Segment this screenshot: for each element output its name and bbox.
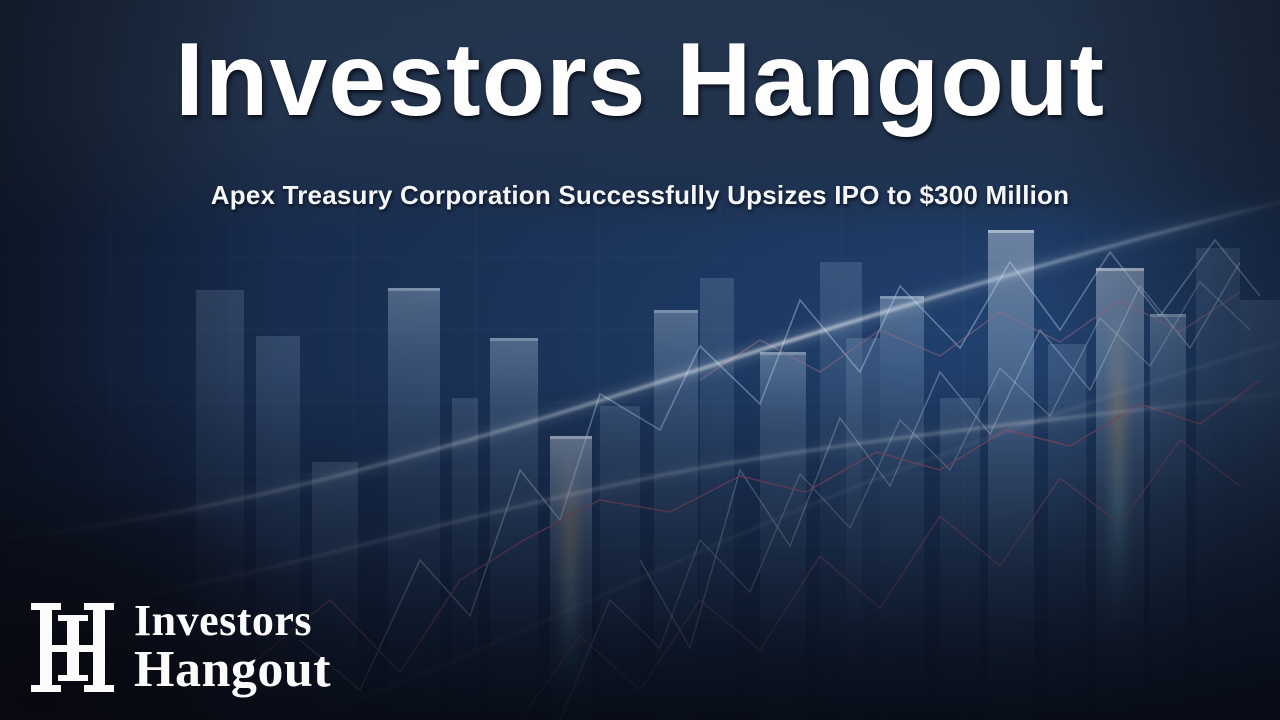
logo-line-2: Hangout <box>134 645 331 696</box>
page-subtitle: Apex Treasury Corporation Successfully U… <box>0 180 1280 211</box>
logo-wordmark: Investors Hangout <box>134 599 331 695</box>
page-title: Investors Hangout <box>0 22 1280 138</box>
promo-banner: Investors Hangout Apex Treasury Corporat… <box>0 0 1280 720</box>
site-logo[interactable]: Investors Hangout <box>28 595 331 700</box>
ih-monogram-icon <box>28 595 120 700</box>
chart-bars <box>388 230 1280 720</box>
logo-line-1: Investors <box>134 599 331 642</box>
